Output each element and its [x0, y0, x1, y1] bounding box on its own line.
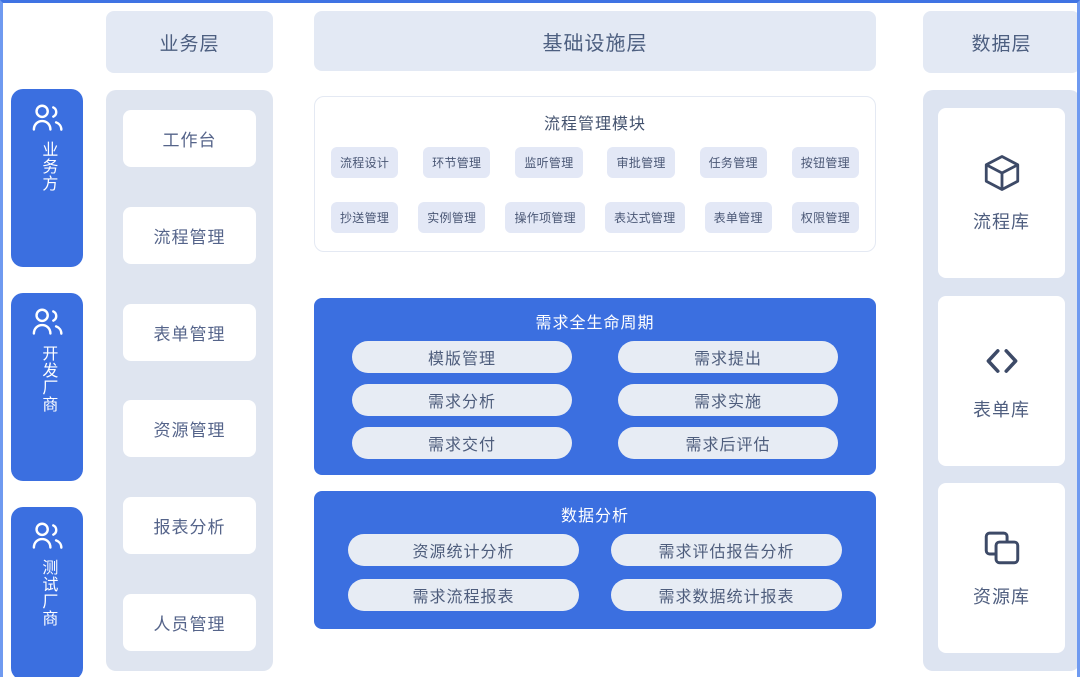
- analysis-resource-statistics[interactable]: 资源统计分析: [348, 534, 579, 566]
- tag-form-management[interactable]: 表单管理: [705, 202, 772, 233]
- copy-layers-icon: [981, 527, 1023, 569]
- tag-expression-management[interactable]: 表达式管理: [605, 202, 685, 233]
- role-label: 测试厂商: [36, 559, 59, 627]
- tag-instance-management[interactable]: 实例管理: [418, 202, 485, 233]
- data-analysis-grid: 资源统计分析 需求评估报告分析 需求流程报表 需求数据统计报表: [348, 534, 842, 611]
- users-icon: [30, 103, 64, 133]
- biz-item-staff-management[interactable]: 人员管理: [123, 594, 256, 651]
- flow-module-tag-row-2: 抄送管理 实例管理 操作项管理 表达式管理 表单管理 权限管理: [331, 202, 859, 233]
- data-item-label: 资源库: [973, 583, 1030, 609]
- tag-listener-management[interactable]: 监听管理: [515, 147, 582, 178]
- architecture-diagram: 业务方 开发厂商 测试厂商 业务层 工作台 流程管理: [0, 0, 1080, 677]
- lifecycle-post-requirement-evaluation[interactable]: 需求后评估: [618, 427, 838, 459]
- flow-management-module-panel: 流程管理模块 流程设计 环节管理 监听管理 审批管理 任务管理 按钮管理 抄送管…: [314, 96, 876, 252]
- lifecycle-requirement-implementation[interactable]: 需求实施: [618, 384, 838, 416]
- infrastructure-layer-header: 基础设施层: [314, 11, 876, 71]
- tag-button-management[interactable]: 按钮管理: [792, 147, 859, 178]
- tag-permission-management[interactable]: 权限管理: [792, 202, 859, 233]
- data-layer-header: 数据层: [923, 11, 1080, 73]
- role-rail: 业务方 开发厂商 测试厂商: [11, 3, 91, 677]
- biz-item-process-management[interactable]: 流程管理: [123, 207, 256, 264]
- data-item-label: 表单库: [973, 396, 1030, 422]
- data-item-label: 流程库: [973, 208, 1030, 234]
- analysis-requirement-evaluation-report[interactable]: 需求评估报告分析: [611, 534, 842, 566]
- biz-item-form-management[interactable]: 表单管理: [123, 304, 256, 361]
- data-layer-column: 数据层 流程库 表单库 资: [923, 11, 1080, 671]
- data-layer-list: 流程库 表单库 资源库: [923, 90, 1080, 671]
- lifecycle-requirement-delivery[interactable]: 需求交付: [352, 427, 572, 459]
- role-card-business-party[interactable]: 业务方: [11, 89, 83, 267]
- flow-module-title: 流程管理模块: [331, 110, 859, 134]
- users-icon: [30, 521, 64, 551]
- tag-node-management[interactable]: 环节管理: [423, 147, 490, 178]
- data-item-form-repository[interactable]: 表单库: [938, 296, 1065, 466]
- analysis-requirement-flow-report[interactable]: 需求流程报表: [348, 579, 579, 611]
- tag-approval-management[interactable]: 审批管理: [607, 147, 674, 178]
- cube-icon: [981, 152, 1023, 194]
- infrastructure-layer-column: 基础设施层 流程管理模块 流程设计 环节管理 监听管理 审批管理 任务管理 按钮…: [314, 11, 876, 629]
- business-layer-column: 业务层 工作台 流程管理 表单管理 资源管理 报表分析 人员管理: [106, 11, 273, 671]
- requirement-lifecycle-panel: 需求全生命周期 模版管理 需求提出 需求分析 需求实施 需求交付 需求后评估: [314, 298, 876, 475]
- data-analysis-title: 数据分析: [348, 502, 842, 526]
- code-brackets-icon: [981, 340, 1023, 382]
- tag-task-management[interactable]: 任务管理: [700, 147, 767, 178]
- biz-item-workbench[interactable]: 工作台: [123, 110, 256, 167]
- role-label: 业务方: [36, 141, 59, 192]
- flow-module-tag-row-1: 流程设计 环节管理 监听管理 审批管理 任务管理 按钮管理: [331, 147, 859, 178]
- lifecycle-requirement-analysis[interactable]: 需求分析: [352, 384, 572, 416]
- role-label: 开发厂商: [36, 345, 59, 413]
- tag-flow-design[interactable]: 流程设计: [331, 147, 398, 178]
- data-item-process-repository[interactable]: 流程库: [938, 108, 1065, 278]
- business-layer-list: 工作台 流程管理 表单管理 资源管理 报表分析 人员管理: [106, 90, 273, 671]
- biz-item-resource-management[interactable]: 资源管理: [123, 400, 256, 457]
- data-item-resource-repository[interactable]: 资源库: [938, 483, 1065, 653]
- users-icon: [30, 307, 64, 337]
- biz-item-report-analysis[interactable]: 报表分析: [123, 497, 256, 554]
- role-card-test-vendor[interactable]: 测试厂商: [11, 507, 83, 677]
- tag-operation-item-management[interactable]: 操作项管理: [505, 202, 585, 233]
- tag-cc-management[interactable]: 抄送管理: [331, 202, 398, 233]
- lifecycle-title: 需求全生命周期: [352, 309, 838, 333]
- lifecycle-grid: 模版管理 需求提出 需求分析 需求实施 需求交付 需求后评估: [352, 341, 838, 459]
- role-card-dev-vendor[interactable]: 开发厂商: [11, 293, 83, 481]
- business-layer-header: 业务层: [106, 11, 273, 73]
- lifecycle-template-management[interactable]: 模版管理: [352, 341, 572, 373]
- lifecycle-requirement-submission[interactable]: 需求提出: [618, 341, 838, 373]
- data-analysis-panel: 数据分析 资源统计分析 需求评估报告分析 需求流程报表 需求数据统计报表: [314, 491, 876, 629]
- analysis-requirement-data-statistics-report[interactable]: 需求数据统计报表: [611, 579, 842, 611]
